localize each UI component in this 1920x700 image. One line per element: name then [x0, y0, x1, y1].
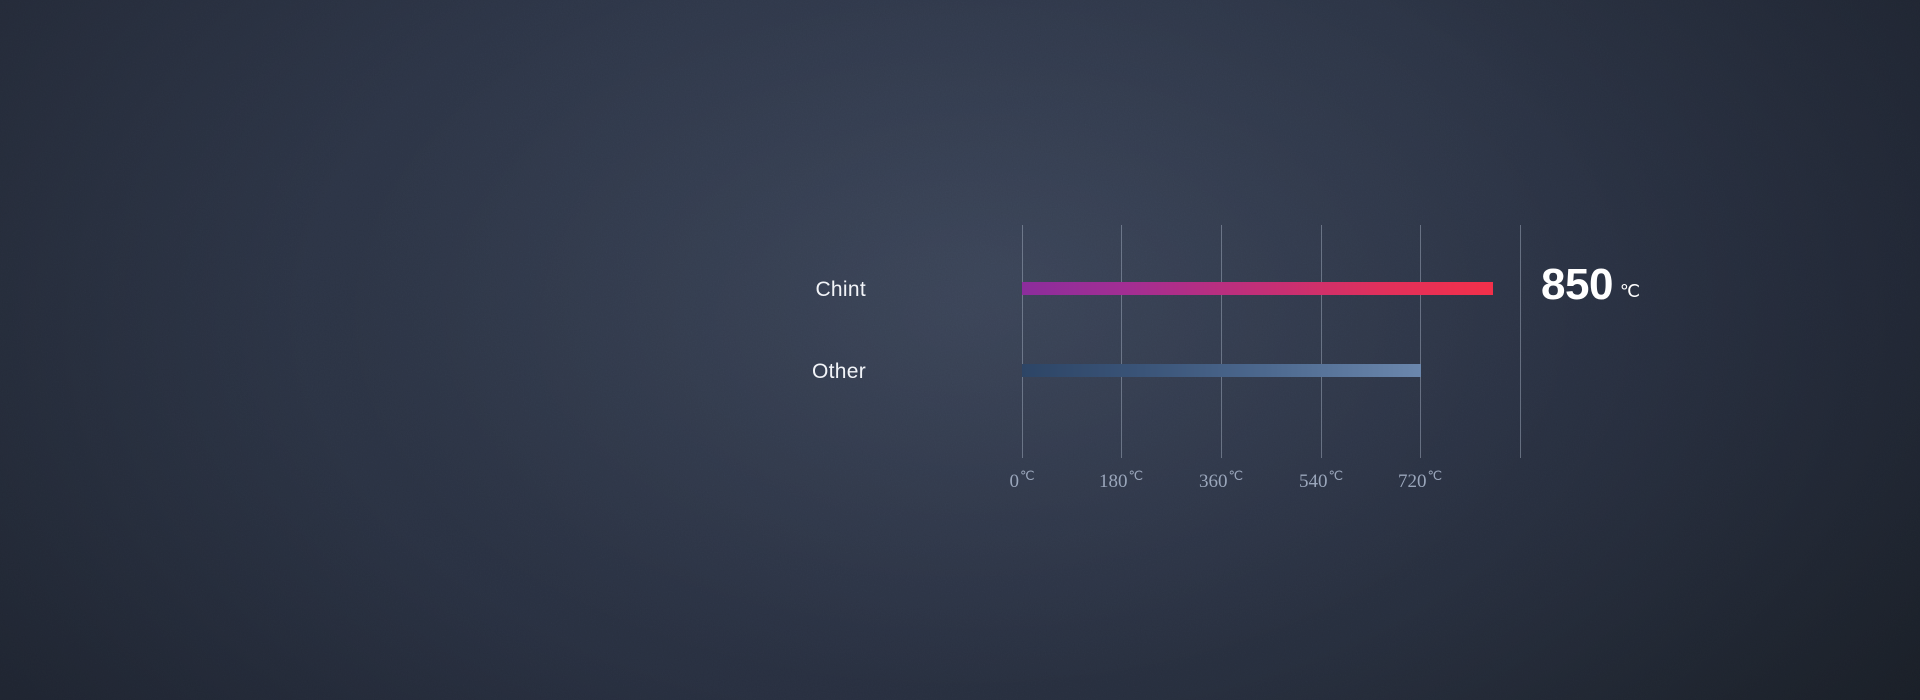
axis-tick-720-unit: ℃ — [1427, 468, 1442, 483]
axis-tick-360-unit: ℃ — [1228, 468, 1243, 483]
axis-tick-180-value: 180 — [1099, 471, 1128, 492]
bar-other[interactable] — [1022, 364, 1421, 377]
gridline-180 — [1121, 225, 1122, 458]
gridline-0 — [1022, 225, 1023, 458]
bar-row-chint[interactable] — [1022, 282, 1493, 295]
bar-row-other[interactable] — [1022, 364, 1421, 377]
gridline-540 — [1321, 225, 1322, 458]
value-callout-chint: 850 ℃ — [1541, 263, 1640, 307]
axis-tick-540-unit: ℃ — [1328, 468, 1343, 483]
bar-chint[interactable] — [1022, 282, 1493, 295]
axis-tick-0-unit: ℃ — [1020, 468, 1035, 483]
plot-area: 0℃ 180℃ 360℃ 540℃ 720℃ — [1022, 225, 1521, 458]
gridline-720 — [1420, 225, 1421, 458]
axis-tick-540: 540℃ — [1299, 468, 1343, 493]
value-callout-unit: ℃ — [1620, 281, 1640, 302]
axis-tick-0: 0℃ — [1009, 468, 1034, 493]
axis-tick-540-value: 540 — [1299, 471, 1328, 492]
gridline-900 — [1520, 225, 1521, 458]
axis-tick-0-value: 0 — [1009, 471, 1019, 492]
category-label-chint: Chint — [815, 278, 866, 302]
axis-tick-720-value: 720 — [1398, 471, 1427, 492]
axis-tick-180-unit: ℃ — [1128, 468, 1143, 483]
axis-tick-360: 360℃ — [1199, 468, 1243, 493]
axis-tick-180: 180℃ — [1099, 468, 1143, 493]
chart-canvas: Chint Other 0℃ 180℃ 360℃ 540℃ — [0, 0, 1920, 700]
axis-tick-720: 720℃ — [1398, 468, 1442, 493]
category-label-other: Other — [812, 360, 866, 384]
background-vignette — [0, 0, 1920, 700]
background-noise-texture — [0, 0, 1920, 700]
axis-tick-360-value: 360 — [1199, 471, 1228, 492]
gridline-360 — [1221, 225, 1222, 458]
value-callout-number: 850 — [1541, 263, 1613, 307]
